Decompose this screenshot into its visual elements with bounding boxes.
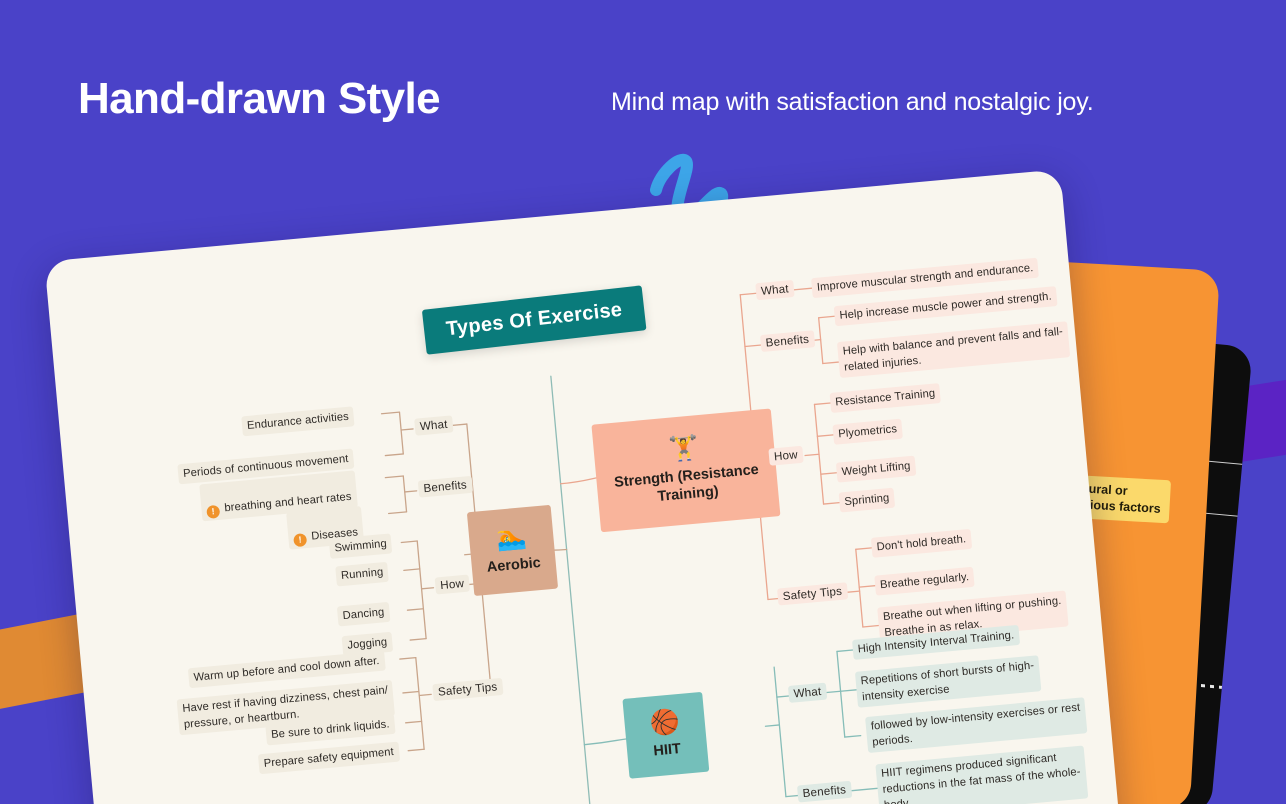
info-icon: ! bbox=[206, 505, 220, 519]
screenshot-canvas: Back URES CT ht Rounded Arms h Seat ushi… bbox=[0, 0, 1286, 804]
branch-hiit-what[interactable]: What bbox=[788, 683, 827, 703]
branch-aerobic-what[interactable]: What bbox=[414, 415, 453, 435]
branch-strength-how[interactable]: How bbox=[768, 446, 803, 466]
page-subtitle: Mind map with satisfaction and nostalgic… bbox=[611, 88, 1093, 117]
topic-label-strength: Strength (Resistance Training) bbox=[606, 461, 768, 510]
swimmer-icon: 🏊 bbox=[495, 525, 527, 552]
topic-node-strength[interactable]: 🏋️ Strength (Resistance Training) bbox=[591, 408, 780, 532]
dumbbell-icon: 🏋️ bbox=[668, 436, 700, 463]
topic-node-aerobic[interactable]: 🏊 Aerobic bbox=[467, 505, 558, 596]
basketball-icon: 🏀 bbox=[649, 710, 681, 737]
topic-label-hiit: HIIT bbox=[653, 741, 682, 761]
branch-strength-what[interactable]: What bbox=[755, 280, 794, 300]
topic-node-hiit[interactable]: 🏀 HIIT bbox=[622, 692, 709, 779]
info-icon: ! bbox=[293, 533, 307, 547]
mindmap-card: Types Of Exercise 🏊 Aerobic 🏋️ Strength … bbox=[44, 169, 1123, 804]
page-title: Hand-drawn Style bbox=[78, 74, 440, 124]
mindmap-canvas: Types Of Exercise 🏊 Aerobic 🏋️ Strength … bbox=[44, 169, 1123, 804]
branch-aerobic-how[interactable]: How bbox=[435, 575, 470, 595]
topic-label-aerobic: Aerobic bbox=[486, 555, 541, 577]
